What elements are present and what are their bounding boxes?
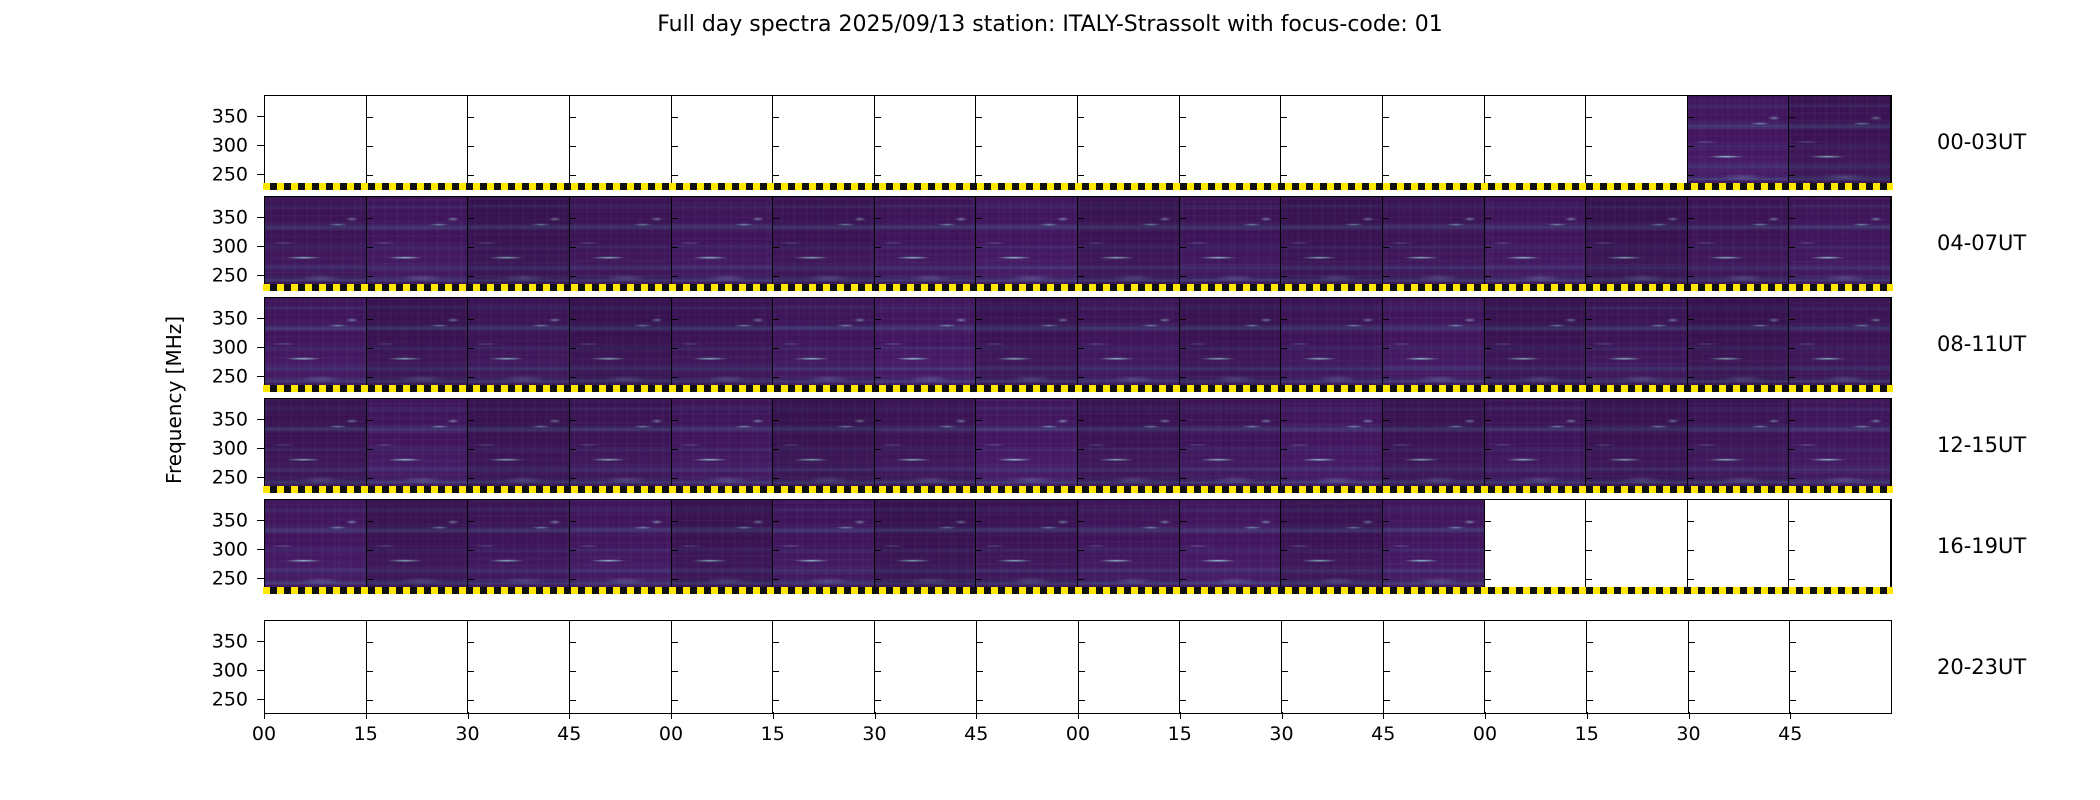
spectrogram-image — [1789, 197, 1890, 289]
spectrogram-panel[interactable] — [1689, 621, 1791, 713]
spectrogram-image — [1688, 298, 1789, 390]
panel-tick — [976, 579, 982, 580]
spectrogram-image — [1281, 298, 1382, 390]
spectrogram-panel[interactable] — [265, 96, 367, 188]
x-tick — [1587, 712, 1588, 719]
spectrogram-panel[interactable] — [468, 399, 570, 491]
spectrogram-image — [1281, 500, 1382, 592]
y-tick: 250 — [257, 376, 264, 377]
panel-tick — [672, 521, 678, 522]
spectrogram-panel[interactable] — [1180, 298, 1282, 390]
panel-tick — [976, 348, 982, 349]
spectrogram-panel[interactable] — [1282, 621, 1384, 713]
spectrogram-panel[interactable] — [570, 500, 672, 592]
x-axis: 00153045001530450015304500153045 — [264, 712, 1892, 762]
panel-tick — [1180, 247, 1186, 248]
panel-tick — [672, 478, 678, 479]
y-tick-label: 250 — [212, 266, 248, 285]
spectrogram-panel[interactable] — [1485, 500, 1587, 592]
panel-tick — [1688, 146, 1694, 147]
spectrogram-image — [570, 399, 671, 491]
panel-tick — [875, 550, 881, 551]
y-tick: 350 — [257, 641, 264, 642]
panel-tick — [1790, 671, 1796, 672]
spectrogram-image — [265, 298, 366, 390]
panel-tick — [672, 420, 678, 421]
spectrogram-panel[interactable] — [1688, 500, 1790, 592]
x-tick — [875, 712, 876, 719]
panel-tick — [773, 700, 779, 701]
x-tick-label: 15 — [761, 723, 785, 745]
spectrogram-image — [1180, 298, 1281, 390]
panel-tick — [1180, 276, 1186, 277]
spectrogram-panel[interactable] — [468, 298, 570, 390]
panel-tick — [367, 478, 373, 479]
panel-tick — [1688, 420, 1694, 421]
spectrogram-panel[interactable] — [1180, 197, 1282, 289]
spectrogram-panel[interactable] — [1485, 197, 1587, 289]
panel-tick — [570, 247, 576, 248]
panel-tick — [672, 146, 678, 147]
panel-tick — [1281, 420, 1287, 421]
spectrogram-row-00-03ut[interactable]: 35030025000-03UT — [264, 95, 1892, 189]
panel-tick — [1587, 671, 1593, 672]
x-tick-label: 45 — [557, 723, 581, 745]
panel-tick — [1689, 700, 1695, 701]
spectrogram-panel[interactable] — [1485, 621, 1587, 713]
y-tick-label: 300 — [212, 661, 248, 680]
panel-tick — [1281, 521, 1287, 522]
spectrogram-panel[interactable] — [1078, 298, 1180, 390]
panel-tick — [1383, 146, 1389, 147]
panel-tick — [1688, 449, 1694, 450]
row-axes — [264, 297, 1892, 391]
panel-tick — [468, 521, 474, 522]
spectrogram-panel[interactable] — [875, 298, 977, 390]
y-tick: 300 — [257, 145, 264, 146]
panel-tick — [570, 146, 576, 147]
spectrogram-panel[interactable] — [367, 621, 469, 713]
spectrogram-panel[interactable] — [672, 399, 774, 491]
panel-tick — [1180, 319, 1186, 320]
panel-tick — [1789, 218, 1795, 219]
spectrogram-panel[interactable] — [1078, 500, 1180, 592]
panel-tick — [875, 449, 881, 450]
panel-tick — [1078, 420, 1084, 421]
spectrogram-panel[interactable] — [875, 197, 977, 289]
panel-tick — [1180, 642, 1186, 643]
spectrogram-image — [1688, 96, 1789, 188]
spectrogram-panel[interactable] — [570, 621, 672, 713]
spectrogram-image — [265, 399, 366, 491]
y-tick: 300 — [257, 347, 264, 348]
spectrogram-panel[interactable] — [875, 399, 977, 491]
spectrogram-image — [468, 399, 569, 491]
spectrogram-image — [1281, 197, 1382, 289]
spectrogram-panel[interactable] — [1281, 399, 1383, 491]
panel-tick — [570, 420, 576, 421]
spectrogram-panel[interactable] — [265, 399, 367, 491]
panel-tick — [1281, 449, 1287, 450]
spectrogram-panel[interactable] — [1789, 298, 1891, 390]
spectrogram-panel[interactable] — [1079, 621, 1181, 713]
spectrogram-figure: Full day spectra 2025/09/13 station: ITA… — [0, 0, 2100, 800]
panel-tick — [1485, 521, 1491, 522]
panel-tick — [367, 579, 373, 580]
spectrogram-image — [773, 197, 874, 289]
spectrogram-panel[interactable] — [1078, 96, 1180, 188]
y-tick-label: 350 — [212, 208, 248, 227]
x-tick-label: 45 — [1371, 723, 1395, 745]
y-tick: 300 — [257, 670, 264, 671]
y-tick: 350 — [257, 419, 264, 420]
spectrogram-panel[interactable] — [1485, 96, 1587, 188]
spectrogram-panel[interactable] — [1790, 621, 1891, 713]
panel-tick — [1586, 478, 1592, 479]
spectrogram-panel[interactable] — [265, 500, 367, 592]
y-axis-label: Frequency [MHz] — [162, 316, 186, 484]
spectrogram-panel[interactable] — [1586, 399, 1688, 491]
panel-tick — [672, 218, 678, 219]
spectrogram-panel[interactable] — [570, 197, 672, 289]
panel-tick — [1586, 521, 1592, 522]
spectrogram-panel[interactable] — [1485, 399, 1587, 491]
spectrogram-panel[interactable] — [1383, 399, 1485, 491]
spectrogram-panel[interactable] — [1587, 621, 1689, 713]
spectrogram-panel[interactable] — [1180, 399, 1282, 491]
spectrogram-row-08-11ut[interactable]: 35030025008-11UT — [264, 297, 1892, 391]
x-tick — [569, 712, 570, 719]
panel-tick — [1078, 247, 1084, 248]
y-tick: 250 — [257, 578, 264, 579]
panel-tick — [468, 175, 474, 176]
panel-tick — [875, 319, 881, 320]
panel-tick — [672, 247, 678, 248]
y-tick-label: 300 — [212, 136, 248, 155]
panel-tick — [1789, 579, 1795, 580]
spectrogram-panel[interactable] — [977, 621, 1079, 713]
panel-tick — [468, 348, 474, 349]
spectrogram-image — [1281, 399, 1382, 491]
panel-tick — [1485, 700, 1491, 701]
spectrogram-panel[interactable] — [570, 96, 672, 188]
panel-tick — [1078, 117, 1084, 118]
spectrogram-image — [875, 197, 976, 289]
panel-tick — [672, 579, 678, 580]
spectrogram-panel[interactable] — [976, 399, 1078, 491]
y-tick: 250 — [257, 275, 264, 276]
spectrogram-image — [570, 298, 671, 390]
spectrogram-panel[interactable] — [468, 621, 570, 713]
panel-tick — [1180, 449, 1186, 450]
panel-tick — [976, 420, 982, 421]
panel-tick — [367, 117, 373, 118]
panel-tick — [1485, 642, 1491, 643]
spectrogram-panel[interactable] — [672, 96, 774, 188]
spectrogram-image — [1383, 500, 1484, 592]
spectrogram-image — [672, 197, 773, 289]
x-tick — [1485, 712, 1486, 719]
x-tick-label: 45 — [1778, 723, 1802, 745]
spectrogram-panel[interactable] — [1789, 399, 1891, 491]
panel-tick — [1078, 579, 1084, 580]
spectrogram-panel[interactable] — [1384, 621, 1486, 713]
panel-tick — [1180, 521, 1186, 522]
panel-tick — [875, 146, 881, 147]
spectrogram-panel[interactable] — [773, 399, 875, 491]
row-time-label: 12-15UT — [1937, 433, 2026, 457]
x-tick-label: 30 — [1676, 723, 1700, 745]
y-tick-label: 350 — [212, 107, 248, 126]
spectrogram-image — [1789, 96, 1890, 188]
y-tick: 300 — [257, 549, 264, 550]
panel-tick — [875, 377, 881, 378]
spectrogram-panel[interactable] — [1180, 621, 1282, 713]
spectrogram-panel[interactable] — [1281, 96, 1383, 188]
panel-tick — [1079, 642, 1085, 643]
spectrogram-panel[interactable] — [875, 621, 977, 713]
panel-tick — [1281, 348, 1287, 349]
panel-tick — [1078, 146, 1084, 147]
panel-tick — [976, 377, 982, 378]
spectrogram-panel[interactable] — [1688, 298, 1790, 390]
spectrogram-panel[interactable] — [265, 298, 367, 390]
panel-tick — [976, 521, 982, 522]
spectrogram-panel[interactable] — [1688, 399, 1790, 491]
panel-tick — [1281, 550, 1287, 551]
spectrogram-panel[interactable] — [468, 500, 570, 592]
spectrogram-panel[interactable] — [672, 500, 774, 592]
panel-tick — [367, 276, 373, 277]
panel-tick — [976, 247, 982, 248]
spectrogram-panel[interactable] — [1383, 500, 1485, 592]
panel-tick — [875, 478, 881, 479]
panel-tick — [1383, 449, 1389, 450]
panel-tick — [1180, 175, 1186, 176]
panel-tick — [1383, 276, 1389, 277]
row-axes — [264, 620, 1892, 714]
y-tick-label: 350 — [212, 511, 248, 530]
spectrogram-panel[interactable] — [1789, 96, 1891, 188]
panel-tick — [1586, 175, 1592, 176]
x-tick — [366, 712, 367, 719]
spectrogram-image — [367, 500, 468, 592]
spectrogram-panel[interactable] — [1789, 500, 1891, 592]
panel-tick — [1789, 550, 1795, 551]
spectrogram-image — [773, 298, 874, 390]
panel-tick — [1384, 642, 1390, 643]
spectrogram-panel[interactable] — [976, 197, 1078, 289]
data-extent-marker — [263, 183, 1892, 190]
panel-tick — [1384, 671, 1390, 672]
panel-tick — [1383, 478, 1389, 479]
spectrogram-image — [1180, 399, 1281, 491]
spectrogram-row-12-15ut[interactable]: 35030025012-15UT — [264, 398, 1892, 492]
y-tick-label: 250 — [212, 367, 248, 386]
spectrogram-panel[interactable] — [468, 96, 570, 188]
spectrogram-panel[interactable] — [570, 399, 672, 491]
spectrogram-panel[interactable] — [570, 298, 672, 390]
spectrogram-panel[interactable] — [468, 197, 570, 289]
panel-tick — [1180, 218, 1186, 219]
panel-tick — [976, 175, 982, 176]
panel-tick — [367, 700, 373, 701]
panel-tick — [1586, 247, 1592, 248]
panel-tick — [1282, 700, 1288, 701]
x-tick — [468, 712, 469, 719]
x-tick-label: 30 — [862, 723, 886, 745]
panel-tick — [875, 420, 881, 421]
panel-tick — [1383, 218, 1389, 219]
spectrogram-panel[interactable] — [1485, 298, 1587, 390]
spectrogram-panel[interactable] — [1180, 96, 1282, 188]
spectrogram-panel[interactable] — [976, 96, 1078, 188]
panel-tick — [672, 671, 678, 672]
spectrogram-panel[interactable] — [367, 500, 469, 592]
spectrogram-panel[interactable] — [672, 621, 774, 713]
panel-tick — [1383, 579, 1389, 580]
spectrogram-panel[interactable] — [1688, 96, 1790, 188]
x-tick — [976, 712, 977, 719]
panel-tick — [1586, 579, 1592, 580]
panel-tick — [1282, 671, 1288, 672]
panel-tick — [1688, 521, 1694, 522]
x-tick — [1790, 712, 1791, 719]
spectrogram-panel[interactable] — [1281, 197, 1383, 289]
panel-tick — [468, 579, 474, 580]
panel-tick — [1180, 700, 1186, 701]
spectrogram-panel[interactable] — [875, 500, 977, 592]
spectrogram-panel[interactable] — [875, 96, 977, 188]
panel-tick — [367, 377, 373, 378]
panel-tick — [875, 276, 881, 277]
panel-tick — [1180, 478, 1186, 479]
panel-tick — [976, 218, 982, 219]
panel-tick — [1383, 348, 1389, 349]
spectrogram-panel[interactable] — [773, 298, 875, 390]
spectrogram-panel[interactable] — [1383, 197, 1485, 289]
panel-tick — [1180, 420, 1186, 421]
panel-tick — [570, 348, 576, 349]
spectrogram-panel[interactable] — [1586, 197, 1688, 289]
spectrogram-panel[interactable] — [1383, 298, 1485, 390]
panel-tick — [773, 175, 779, 176]
panel-tick — [672, 117, 678, 118]
spectrogram-panel[interactable] — [1180, 500, 1282, 592]
panel-tick — [1180, 348, 1186, 349]
spectrogram-panel[interactable] — [773, 500, 875, 592]
spectrogram-panel[interactable] — [773, 621, 875, 713]
panel-tick — [1485, 377, 1491, 378]
spectrogram-panel[interactable] — [672, 197, 774, 289]
panel-tick — [1281, 247, 1287, 248]
panel-tick — [1281, 175, 1287, 176]
spectrogram-panel[interactable] — [976, 298, 1078, 390]
y-tick-label: 250 — [212, 165, 248, 184]
panel-tick — [1789, 449, 1795, 450]
panel-tick — [1587, 700, 1593, 701]
spectrogram-panel[interactable] — [1281, 298, 1383, 390]
panel-tick — [1281, 579, 1287, 580]
spectrogram-panel[interactable] — [1586, 96, 1688, 188]
spectrogram-panel[interactable] — [265, 621, 367, 713]
spectrogram-row-04-07ut[interactable]: 35030025004-07UT — [264, 196, 1892, 290]
spectrogram-panel[interactable] — [1078, 197, 1180, 289]
spectrogram-panel[interactable] — [773, 96, 875, 188]
spectrogram-panel[interactable] — [1586, 298, 1688, 390]
spectrogram-panel[interactable] — [1688, 197, 1790, 289]
spectrogram-panel[interactable] — [1586, 500, 1688, 592]
panel-tick — [1587, 642, 1593, 643]
spectrogram-row-16-19ut[interactable]: 35030025016-19UT — [264, 499, 1892, 593]
panel-tick — [570, 319, 576, 320]
panel-tick — [672, 700, 678, 701]
panel-tick — [468, 671, 474, 672]
spectrogram-image — [1078, 500, 1179, 592]
x-tick-label: 30 — [455, 723, 479, 745]
panel-tick — [1281, 146, 1287, 147]
spectrogram-panel[interactable] — [1078, 399, 1180, 491]
spectrogram-panel[interactable] — [1383, 96, 1485, 188]
panel-tick — [672, 449, 678, 450]
spectrogram-panel[interactable] — [367, 399, 469, 491]
y-tick-label: 350 — [212, 632, 248, 651]
spectrogram-image — [672, 500, 773, 592]
panel-tick — [1790, 642, 1796, 643]
spectrogram-panel[interactable] — [1281, 500, 1383, 592]
panel-tick — [773, 420, 779, 421]
spectrogram-panel[interactable] — [773, 197, 875, 289]
spectrogram-panel[interactable] — [367, 96, 469, 188]
spectrogram-image — [976, 399, 1077, 491]
y-tick-label: 300 — [212, 439, 248, 458]
spectrogram-panel[interactable] — [976, 500, 1078, 592]
panel-tick — [1282, 642, 1288, 643]
spectrogram-image — [1078, 298, 1179, 390]
panel-tick — [367, 175, 373, 176]
panel-tick — [468, 247, 474, 248]
panel-tick — [1688, 377, 1694, 378]
panel-tick — [977, 700, 983, 701]
panel-tick — [976, 550, 982, 551]
panel-tick — [1789, 175, 1795, 176]
panel-tick — [1688, 218, 1694, 219]
y-tick: 250 — [257, 699, 264, 700]
panel-tick — [367, 449, 373, 450]
panel-tick — [1688, 247, 1694, 248]
spectrogram-panel[interactable] — [265, 197, 367, 289]
spectrogram-image — [976, 298, 1077, 390]
spectrogram-panel[interactable] — [1789, 197, 1891, 289]
panel-tick — [570, 218, 576, 219]
spectrogram-panel[interactable] — [672, 298, 774, 390]
y-tick-label: 250 — [212, 468, 248, 487]
panel-tick — [367, 348, 373, 349]
spectrogram-panel[interactable] — [367, 298, 469, 390]
spectrogram-panel[interactable] — [367, 197, 469, 289]
panel-tick — [1688, 276, 1694, 277]
panel-tick — [1586, 420, 1592, 421]
spectrogram-image — [570, 500, 671, 592]
panel-tick — [672, 319, 678, 320]
panel-tick — [1586, 449, 1592, 450]
panel-tick — [1383, 377, 1389, 378]
spectrogram-row-20-23ut[interactable]: 35030025020-23UT — [264, 620, 1892, 714]
data-extent-marker — [263, 385, 1892, 392]
panel-tick — [1079, 671, 1085, 672]
panel-tick — [1688, 550, 1694, 551]
spectrogram-image — [1383, 399, 1484, 491]
